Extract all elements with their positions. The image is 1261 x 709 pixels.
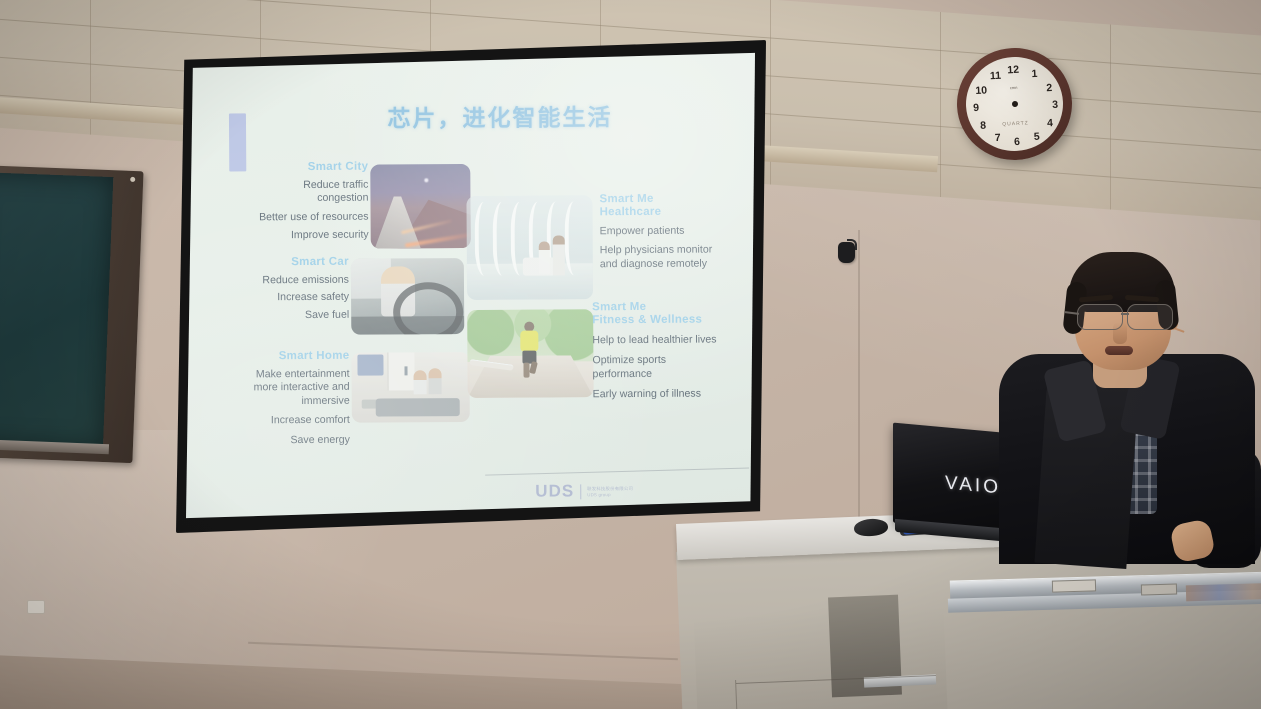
clock-number: 4 — [1043, 117, 1058, 130]
slide-photo-smart-city — [370, 164, 471, 249]
presenter-nose — [1113, 322, 1127, 344]
block-line: Better use of resources — [216, 210, 369, 224]
logo-divider — [580, 484, 581, 499]
clock-number: 1 — [1027, 68, 1042, 81]
block-heading-2: Healthcare — [600, 205, 750, 219]
clock-number: 12 — [1006, 64, 1021, 77]
block-heading: Smart Me — [599, 192, 749, 206]
slide-block-healthcare: Smart Me Healthcare Empower patients Hel… — [599, 192, 749, 271]
block-line: and diagnose remotely — [600, 257, 750, 271]
block-line: Improve security — [234, 229, 369, 243]
block-line: Empower patients — [600, 224, 750, 238]
block-line: Optimize sports — [592, 354, 752, 368]
clock-sub-label: QUARTZ — [1002, 120, 1029, 127]
slide-title: 芯片，进化智能生活 — [335, 98, 665, 134]
blackboard — [0, 165, 144, 463]
blackboard-surface — [0, 172, 113, 449]
block-heading: Smart Me — [592, 300, 752, 314]
clock-number: 7 — [990, 132, 1005, 145]
block-line: performance — [593, 367, 753, 381]
block-line: Save fuel — [214, 309, 349, 323]
presenter-person — [1001, 258, 1261, 558]
slide-photo-smart-home — [351, 352, 469, 423]
logo-subtitle: 联发科技股份有限公司 UDS group — [587, 486, 633, 497]
clock-number: 8 — [976, 119, 991, 132]
block-line: immersive — [205, 395, 350, 409]
wall-seam — [858, 230, 860, 560]
glasses-lens-right — [1127, 304, 1173, 330]
slide-photo-fitness — [467, 309, 594, 398]
block-line: more interactive and — [205, 381, 350, 395]
screen-surface: 芯片，进化智能生活 Smart City Reduce traffic cong… — [186, 52, 755, 520]
glasses-bridge — [1121, 313, 1129, 315]
slide-photo-healthcare — [466, 195, 593, 300]
rail-latch-secondary[interactable] — [1141, 583, 1177, 595]
block-line: Help to lead healthier lives — [592, 333, 752, 347]
logo-subtitle-line2: UDS group — [587, 492, 633, 497]
block-line: Make entertainment — [204, 368, 349, 382]
block-heading: Smart City — [233, 161, 368, 175]
clock-number: 10 — [974, 84, 989, 97]
block-heading: Smart Home — [204, 350, 349, 364]
slide-block-smart-home: Smart Home Make entertainment more inter… — [204, 350, 350, 448]
block-line: Increase comfort — [205, 414, 350, 428]
wall-mount-hook-icon — [838, 242, 855, 263]
rail-colored-panel — [1186, 583, 1261, 602]
block-line: Reduce traffic — [233, 179, 368, 193]
slide-photo-smart-car — [351, 258, 464, 335]
podium-front-panel — [694, 609, 949, 709]
block-heading: Smart Car — [214, 256, 349, 270]
logo-subtitle-line1: 联发科技股份有限公司 — [587, 486, 633, 491]
block-line: congestion — [233, 192, 368, 206]
block-line: Increase safety — [214, 291, 349, 305]
glasses-temple — [1065, 311, 1079, 314]
clock-number: 2 — [1042, 82, 1057, 95]
clock-number: 6 — [1010, 136, 1025, 149]
clock-number: 11 — [988, 70, 1003, 83]
projection-screen: 芯片，进化智能生活 Smart City Reduce traffic cong… — [176, 40, 766, 533]
block-heading-2: Fitness & Wellness — [592, 313, 752, 327]
block-line: Reduce emissions — [214, 274, 349, 288]
clock-face: 12 1 2 3 4 5 6 7 8 9 10 11 cmn QUARTZ — [964, 55, 1066, 154]
presentation-slide: 芯片，进化智能生活 Smart City Reduce traffic cong… — [186, 52, 755, 520]
wall-outlet[interactable] — [27, 600, 45, 614]
slide-block-smart-car: Smart Car Reduce emissions Increase safe… — [214, 256, 349, 323]
clock-number: 9 — [969, 102, 984, 115]
slide-block-fitness: Smart Me Fitness & Wellness Help to lead… — [592, 300, 753, 402]
lecture-room-photo: 12 1 2 3 4 5 6 7 8 9 10 11 cmn QUARTZ 芯片… — [0, 0, 1261, 709]
block-line: Save energy — [205, 433, 350, 447]
slide-footer-logo: UDS 联发科技股份有限公司 UDS group — [535, 481, 633, 502]
block-line: Help physicians monitor — [600, 244, 750, 258]
slide-footer-rule — [485, 468, 749, 476]
clock-center-pin — [1011, 101, 1017, 107]
slide-block-smart-city: Smart City Reduce traffic congestion Bet… — [233, 161, 368, 243]
block-line: Early warning of illness — [593, 387, 753, 401]
clock-number: 3 — [1048, 99, 1063, 112]
clock-brand-label: cmn — [1010, 85, 1018, 90]
presenter-mouth — [1105, 346, 1133, 355]
uds-logo-text: UDS — [535, 481, 574, 501]
rail-latch[interactable] — [1052, 579, 1096, 592]
clock-number: 5 — [1029, 131, 1044, 144]
